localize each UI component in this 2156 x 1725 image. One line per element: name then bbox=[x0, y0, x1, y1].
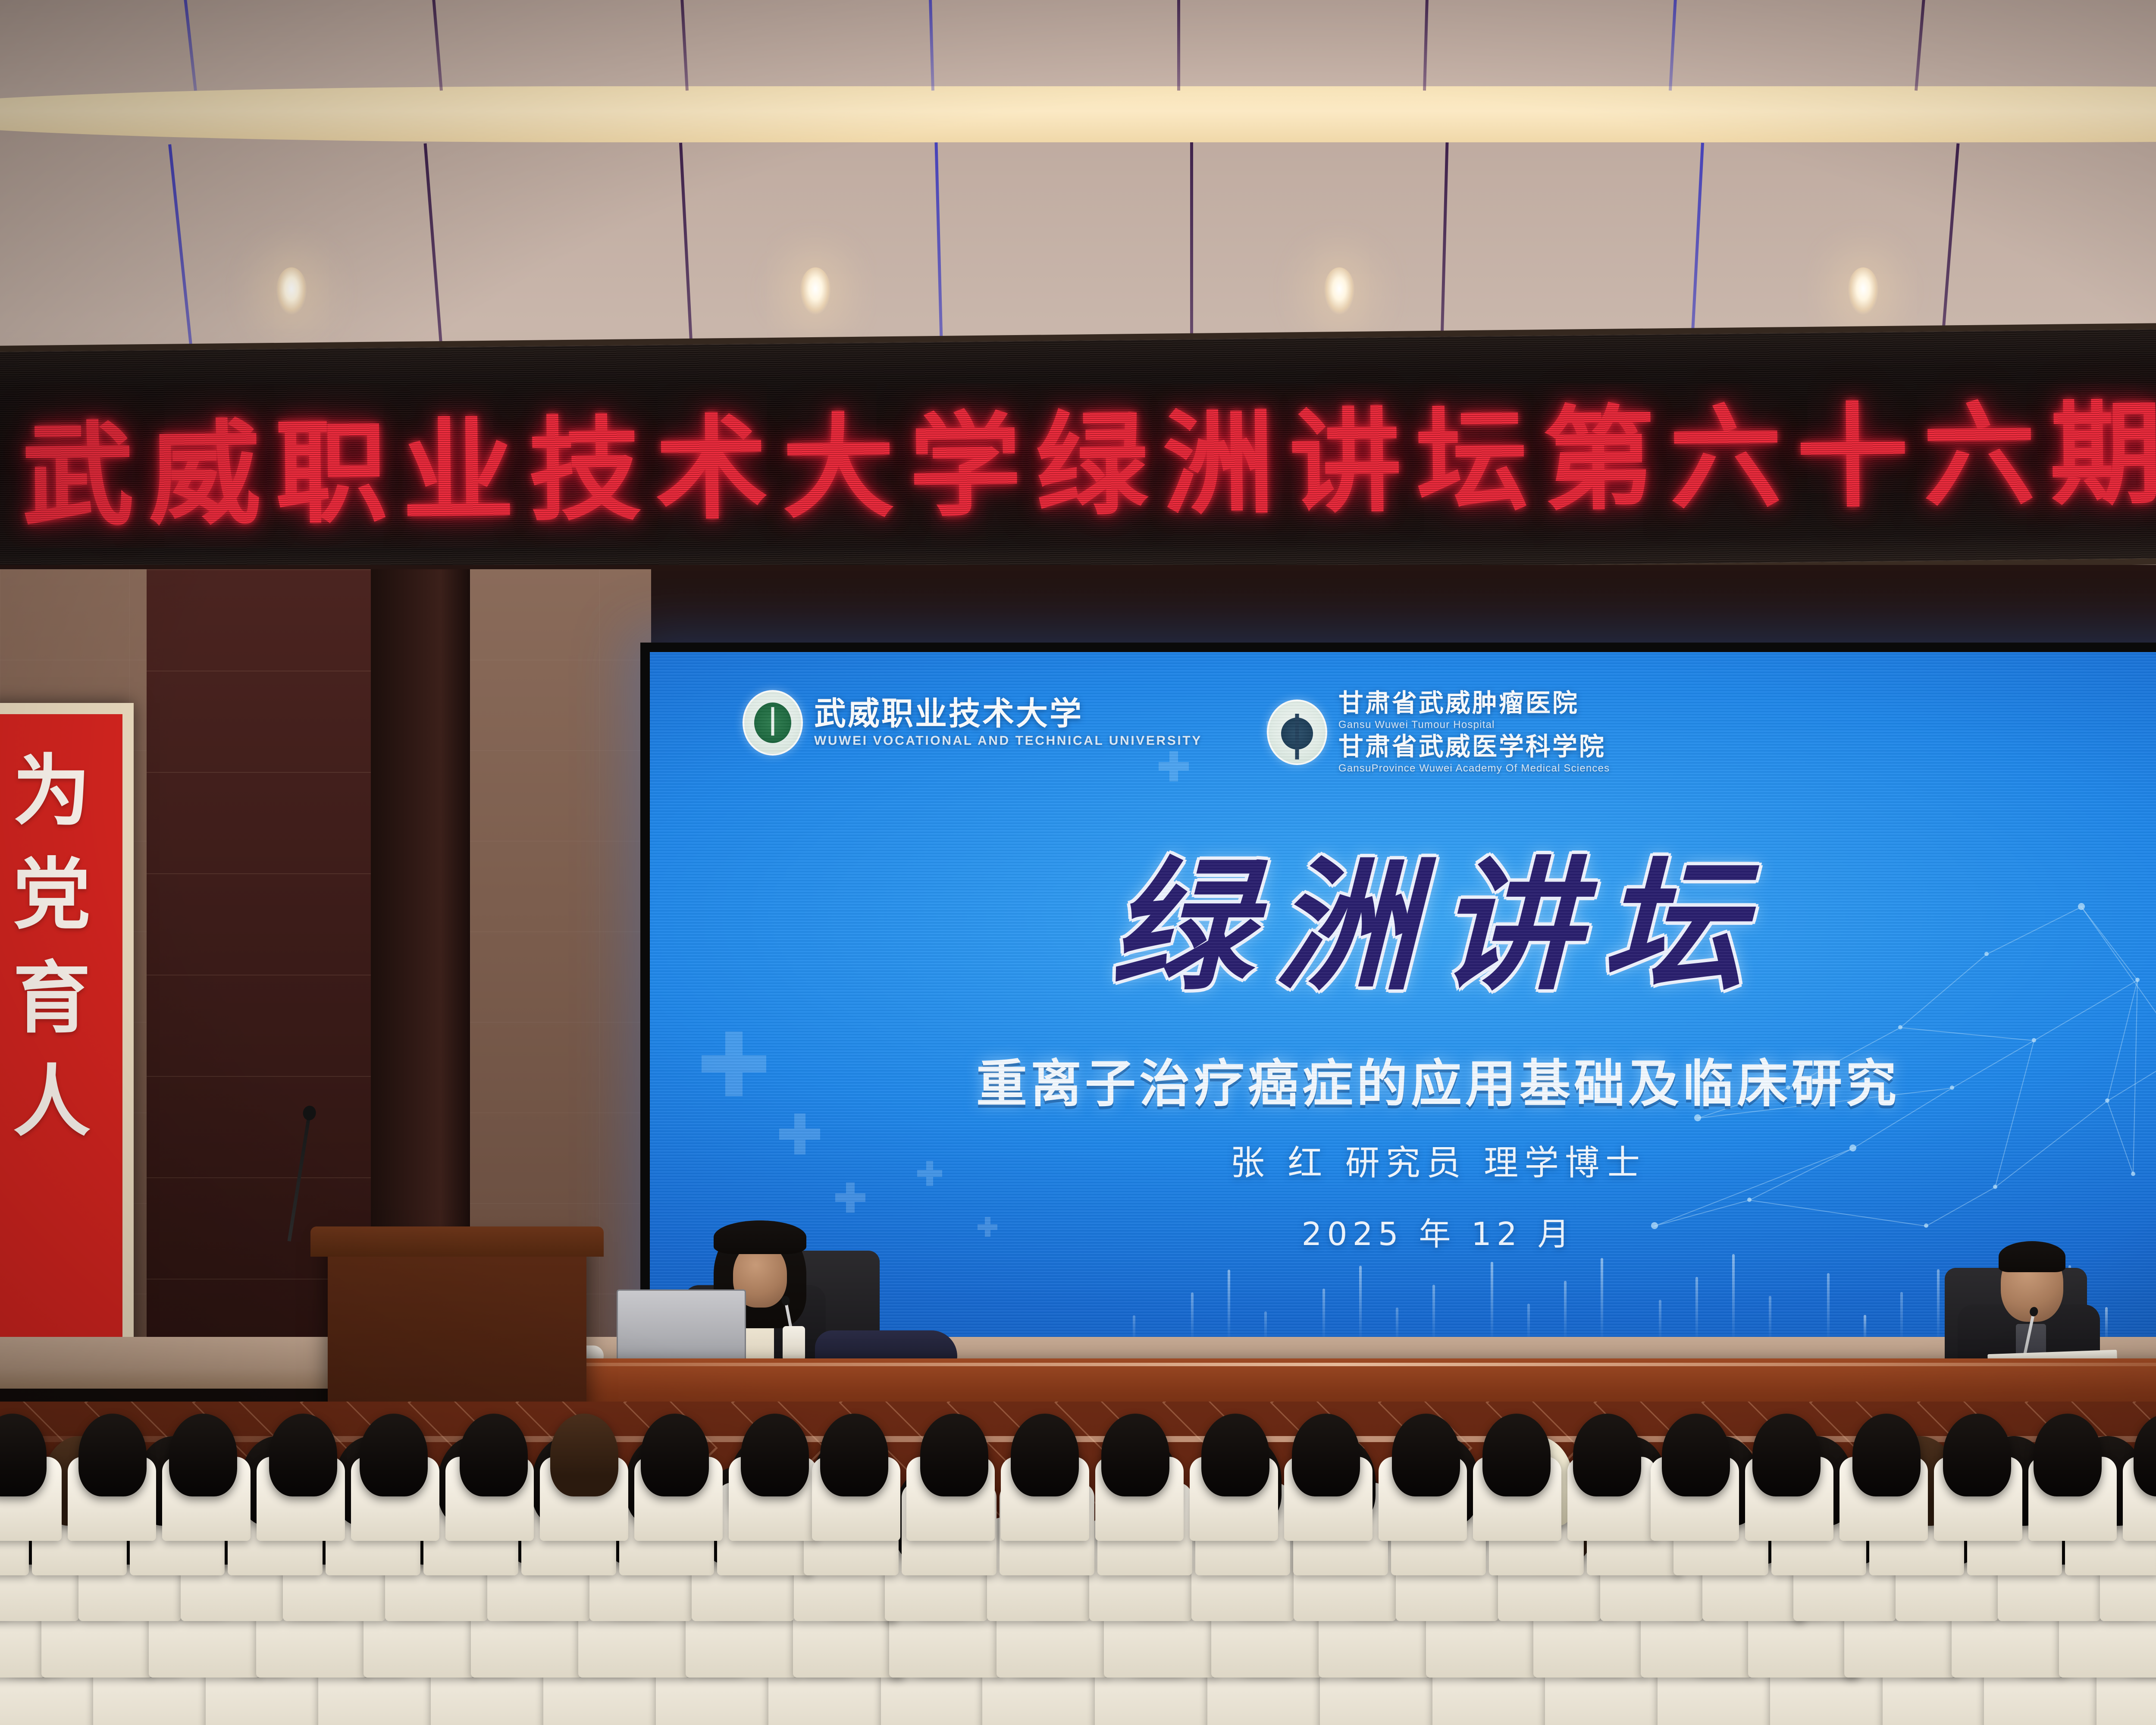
audience-head bbox=[1573, 1414, 1641, 1496]
audience-head bbox=[1011, 1414, 1079, 1496]
ceiling-downlight bbox=[276, 267, 307, 315]
university-name-en: WUWEI VOCATIONAL AND TECHNICAL UNIVERSIT… bbox=[814, 734, 1202, 748]
slide-light-ray bbox=[1191, 1292, 1194, 1341]
hospital-seal-emblem bbox=[1267, 699, 1327, 765]
academy-name-en: GansuProvince Wuwei Academy Of Medical S… bbox=[1338, 762, 1610, 775]
slide-light-ray bbox=[1228, 1270, 1230, 1341]
audience-head bbox=[1482, 1414, 1551, 1496]
audience-head bbox=[741, 1414, 809, 1496]
banner-char-0: 为 bbox=[13, 753, 91, 831]
slide-light-ray bbox=[1695, 1277, 1698, 1341]
slide-light-ray bbox=[1601, 1258, 1603, 1341]
host-hair bbox=[1999, 1241, 2065, 1272]
ceiling-slat bbox=[1177, 0, 1180, 91]
university-logo: 武威职业技术大学 WUWEI VOCATIONAL AND TECHNICAL … bbox=[743, 690, 1202, 756]
hospital-name-en: Gansu Wuwei Tumour Hospital bbox=[1338, 719, 1610, 731]
academy-name-cn: 甘肃省武威医学科学院 bbox=[1338, 734, 1610, 760]
slide-light-ray bbox=[1732, 1254, 1735, 1341]
slide-light-ray bbox=[1659, 1300, 1661, 1341]
hospital-name-cn: 甘肃省武威肿瘤医院 bbox=[1338, 690, 1610, 716]
audience-head bbox=[78, 1414, 147, 1496]
lecture-hall-scene: 武威职业技术大学绿洲讲坛第六十六期报告会 为 党 育 人 武威职业技术大学 bbox=[0, 0, 2156, 1725]
audience-head bbox=[2034, 1414, 2102, 1496]
audience-head bbox=[641, 1414, 709, 1496]
lecturer-laptop-screen bbox=[617, 1289, 746, 1363]
audience-head bbox=[169, 1414, 237, 1496]
slide-light-ray bbox=[1396, 1308, 1398, 1341]
ceiling-downlight bbox=[1848, 267, 1879, 315]
desk-edge-highlight bbox=[466, 1363, 2156, 1366]
audience-head bbox=[1943, 1414, 2011, 1496]
audience-head bbox=[1292, 1414, 1360, 1496]
audience-head bbox=[1662, 1414, 1730, 1496]
audience-head bbox=[1392, 1414, 1460, 1496]
audience-head bbox=[820, 1414, 888, 1496]
left-red-slogan-banner: 为 党 育 人 bbox=[0, 703, 134, 1358]
university-seal-emblem bbox=[743, 690, 803, 756]
hospital-logo: 甘肃省武威肿瘤医院 Gansu Wuwei Tumour Hospital 甘肃… bbox=[1267, 690, 1610, 775]
slide-light-ray bbox=[1359, 1266, 1362, 1341]
slide-light-ray bbox=[1432, 1285, 1435, 1341]
slide-light-ray bbox=[1827, 1273, 1830, 1341]
audience-head bbox=[920, 1414, 988, 1496]
audience-head bbox=[1852, 1414, 1921, 1496]
audience-head bbox=[1752, 1414, 1821, 1496]
podium-top-surface bbox=[310, 1226, 604, 1257]
lecturer-hair-top bbox=[714, 1220, 806, 1254]
slide-light-ray bbox=[1769, 1296, 1771, 1341]
ceiling-downlight bbox=[1324, 267, 1355, 315]
ceiling-cove-band-upper bbox=[0, 86, 2156, 142]
slide-light-ray bbox=[1322, 1289, 1325, 1341]
slide-light-ray bbox=[1491, 1262, 1493, 1341]
audience-head bbox=[1101, 1414, 1169, 1496]
slide-light-ray bbox=[1564, 1281, 1567, 1341]
lecture-title: 重离子治疗癌症的应用基础及临床研究 bbox=[650, 1042, 2156, 1116]
banner-char-3: 人 bbox=[13, 1063, 91, 1141]
network-edge bbox=[1900, 1027, 2034, 1041]
forum-title: 绿洲讲坛 bbox=[650, 855, 2156, 997]
ceiling-downlight bbox=[800, 267, 831, 315]
banner-char-2: 育 bbox=[13, 960, 91, 1038]
led-marquee-banner: 武威职业技术大学绿洲讲坛第六十六期报告会 bbox=[0, 318, 2156, 588]
slide-logo-row: 武威职业技术大学 WUWEI VOCATIONAL AND TECHNICAL … bbox=[743, 690, 1610, 775]
audience-head bbox=[460, 1414, 528, 1496]
audience-head bbox=[269, 1414, 337, 1496]
led-banner-text: 武威职业技术大学绿洲讲坛第六十六期报告会 bbox=[21, 358, 2156, 548]
banner-char-1: 党 bbox=[13, 856, 91, 934]
audience-head bbox=[1201, 1414, 1269, 1496]
university-name-cn: 武威职业技术大学 bbox=[814, 697, 1202, 731]
audience-head bbox=[360, 1414, 428, 1496]
paper-coffee-cup bbox=[783, 1326, 805, 1363]
slide-light-ray bbox=[1900, 1292, 1903, 1341]
presenter-name: 张 红 研究员 理学博士 bbox=[650, 1135, 2156, 1185]
slide-light-ray bbox=[1527, 1304, 1530, 1341]
audience-head bbox=[550, 1414, 618, 1496]
